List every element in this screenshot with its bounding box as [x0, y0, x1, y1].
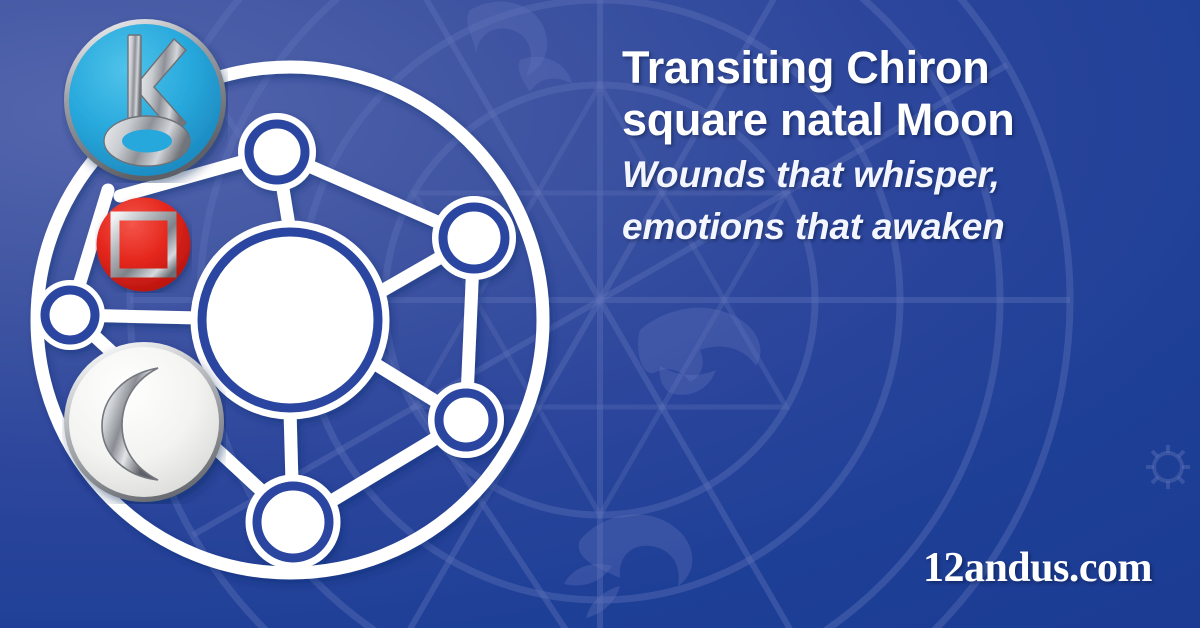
headline-block: Transiting Chiron square natal Moon Woun… — [622, 42, 1182, 250]
title-line-1: Transiting Chiron — [622, 42, 1182, 94]
promo-card: Transiting Chiron square natal Moon Woun… — [0, 0, 1200, 628]
subtitle-line-1: Wounds that whisper, — [622, 152, 1182, 198]
title-line-2: square natal Moon — [622, 94, 1182, 146]
chiron-key-ring — [104, 116, 190, 166]
square-aspect-badge — [95, 196, 192, 293]
brand-wordmark[interactable]: 12andus.com — [923, 544, 1152, 592]
subtitle-line-2: emotions that awaken — [622, 204, 1182, 250]
chiron-glyph-badge — [62, 17, 228, 183]
moon-glyph-badge — [62, 340, 226, 504]
